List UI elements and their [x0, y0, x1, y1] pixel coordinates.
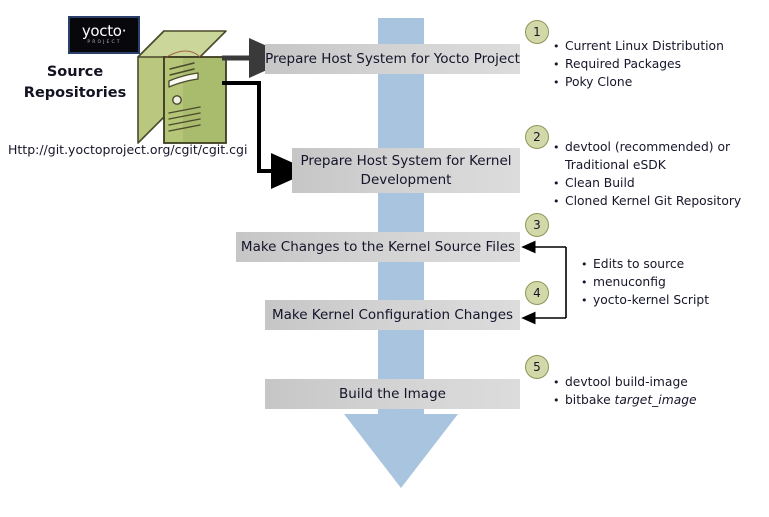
logo-wordmark: yocto·: [82, 24, 126, 39]
step5-details-list: devtool build-image bitbake target_image: [552, 374, 767, 410]
step-badge-4: 4: [525, 281, 549, 305]
list-item: Poky Clone: [552, 74, 767, 91]
list-item: yocto-kernel Script: [580, 292, 765, 309]
step-badge-3: 3: [525, 213, 549, 237]
process-box-step2-line2: Development: [300, 171, 511, 190]
step-badge-1: 1: [525, 20, 549, 44]
process-box-step3[interactable]: Make Changes to the Kernel Source Files: [236, 232, 520, 262]
list-item-emphasis: target_image: [615, 393, 697, 407]
step-badge-5: 5: [525, 355, 549, 379]
list-item: devtool (recommended) or: [552, 139, 767, 156]
list-item: bitbake target_image: [552, 392, 767, 409]
process-box-step1[interactable]: Prepare Host System for Yocto Project: [265, 44, 520, 74]
source-repositories-label-line2: Repositories: [14, 83, 136, 104]
logo-dot: ·: [122, 22, 126, 40]
list-item: Clean Build: [552, 175, 767, 192]
list-item: Cloned Kernel Git Repository: [552, 193, 767, 210]
list-item-continuation: Traditional eSDK: [552, 157, 767, 174]
list-item: Required Packages: [552, 56, 767, 73]
process-box-step5[interactable]: Build the Image: [265, 379, 520, 409]
process-box-step4[interactable]: Make Kernel Configuration Changes: [265, 300, 520, 330]
step3-step4-shared-details-list: Edits to source menuconfig yocto-kernel …: [580, 256, 765, 310]
logo-subtext: PROJECT: [87, 41, 121, 46]
process-box-step2[interactable]: Prepare Host System for Kernel Developme…: [292, 148, 520, 193]
server-tower-icon: [136, 29, 232, 145]
list-item: menuconfig: [580, 274, 765, 291]
list-item: Current Linux Distribution: [552, 38, 767, 55]
step-badge-2: 2: [525, 125, 549, 149]
yocto-project-logo: yocto· PROJECT: [68, 16, 140, 54]
process-box-step2-line1: Prepare Host System for Kernel: [300, 152, 511, 171]
list-item: Edits to source: [580, 256, 765, 273]
diagram-canvas: yocto· PROJECT Source Repositories Http:…: [0, 0, 769, 517]
step1-details-list: Current Linux Distribution Required Pack…: [552, 38, 767, 92]
list-item-text: bitbake: [565, 393, 615, 407]
source-repositories-label-line1: Source: [14, 62, 136, 83]
step2-details-list: devtool (recommended) or Traditional eSD…: [552, 139, 767, 211]
list-item: devtool build-image: [552, 374, 767, 391]
source-repositories-label: Source Repositories: [14, 62, 136, 104]
